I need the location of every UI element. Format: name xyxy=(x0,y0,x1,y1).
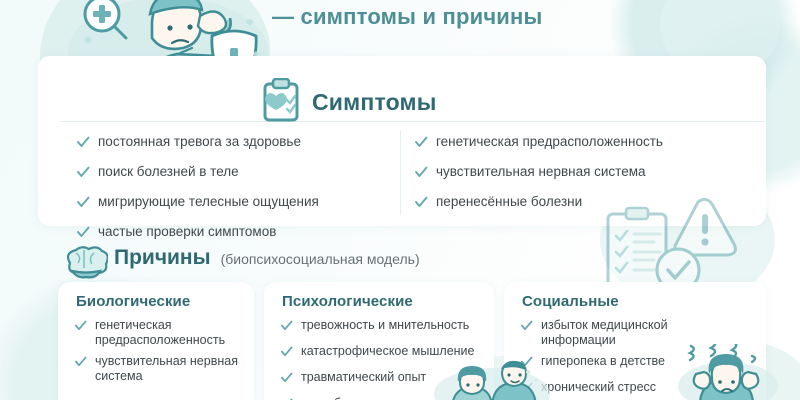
check-icon xyxy=(76,135,90,154)
list-item: поиск болезней в теле xyxy=(76,164,396,184)
list-item: генетическая предрасположенность xyxy=(414,134,744,154)
list-item: травматический опыт xyxy=(280,370,486,389)
list-item-label: перенесённые болезни xyxy=(436,194,582,209)
check-icon xyxy=(76,225,90,244)
symptoms-right-list: генетическая предрасположенность чувстви… xyxy=(414,134,744,224)
brain-icon xyxy=(62,245,108,284)
check-icon xyxy=(414,195,428,214)
causes-column-psychological: Психологические тревожность и мнительнос… xyxy=(264,282,494,400)
list-item: тревожность и мнительность xyxy=(280,318,486,337)
check-icon xyxy=(520,355,533,373)
check-icon xyxy=(414,165,428,184)
check-icon xyxy=(280,345,293,363)
list-item-label: тревожность и мнительность xyxy=(301,318,469,333)
column-list: избыток медицинской информации гиперопек… xyxy=(520,318,700,400)
check-icon xyxy=(280,319,293,337)
column-title: Биологические xyxy=(76,293,190,310)
symptoms-left-list: постоянная тревога за здоровье поиск бол… xyxy=(76,134,396,254)
check-icon xyxy=(414,135,428,154)
column-list: генетическая предрасположенность чувстви… xyxy=(74,318,246,390)
list-item: перенесённые болезни xyxy=(414,194,744,214)
check-icon xyxy=(74,355,87,373)
list-item: потребность xyxy=(280,396,486,400)
list-item-label: чувствительная нервная система xyxy=(95,354,246,383)
list-item: чувствительная нервная система xyxy=(414,164,744,184)
symptoms-header: Симптомы xyxy=(262,78,437,127)
list-item: чувствительная нервная система xyxy=(74,354,246,383)
list-item: частые проверки симптомов xyxy=(76,224,396,244)
check-icon xyxy=(76,165,90,184)
list-item: мигрирующие телесные ощущения xyxy=(76,194,396,214)
list-item: хронический стресс xyxy=(520,380,700,399)
list-item-label: гиперопека в детстве xyxy=(541,354,665,369)
list-item: постоянная тревога за здоровье xyxy=(76,134,396,154)
check-icon xyxy=(280,371,293,389)
list-item-label: потребность xyxy=(301,396,373,400)
column-list: тревожность и мнительность катастрофичес… xyxy=(280,318,486,400)
list-item-label: мигрирующие телесные ощущения xyxy=(98,194,319,209)
list-item-label: частые проверки симптомов xyxy=(98,224,276,239)
check-icon xyxy=(74,319,87,337)
causes-subheading: (биопсихосоциальная модель) xyxy=(221,251,420,267)
list-item-label: избыток медицинской информации xyxy=(541,318,700,347)
symptoms-heading: Симптомы xyxy=(312,89,437,116)
infographic-canvas: — симптомы и причины Симптомы постоянная… xyxy=(0,0,800,400)
list-item-label: поиск болезней в теле xyxy=(98,164,239,179)
column-title: Психологические xyxy=(282,293,413,310)
list-item-label: хронический стресс xyxy=(541,380,656,395)
list-item: гиперопека в детстве xyxy=(520,354,700,373)
check-icon xyxy=(520,319,533,337)
check-icon xyxy=(520,381,533,399)
check-icon xyxy=(76,195,90,214)
page-title: — симптомы и причины xyxy=(272,4,543,30)
list-item-label: генетическая предрасположенность xyxy=(436,134,663,149)
causes-column-biological: Биологические генетическая предрасположе… xyxy=(58,282,254,400)
list-item: катастрофическое мышление xyxy=(280,344,486,363)
list-item-label: чувствительная нервная система xyxy=(436,164,646,179)
list-item-label: генетическая предрасположенность xyxy=(95,318,246,347)
list-item-label: катастрофическое мышление xyxy=(301,344,475,359)
causes-heading: Причины xyxy=(114,246,211,270)
clipboard-heart-icon xyxy=(262,78,300,127)
list-item-label: травматический опыт xyxy=(301,370,426,385)
causes-column-social: Социальные избыток медицинской информаци… xyxy=(504,282,766,400)
list-item: генетическая предрасположенность xyxy=(74,318,246,347)
symptoms-column-divider xyxy=(400,131,401,215)
list-item-label: постоянная тревога за здоровье xyxy=(98,134,301,149)
causes-header: Причины (биопсихосоциальная модель) xyxy=(114,246,420,270)
column-title: Социальные xyxy=(522,293,619,310)
list-item: избыток медицинской информации xyxy=(520,318,700,347)
